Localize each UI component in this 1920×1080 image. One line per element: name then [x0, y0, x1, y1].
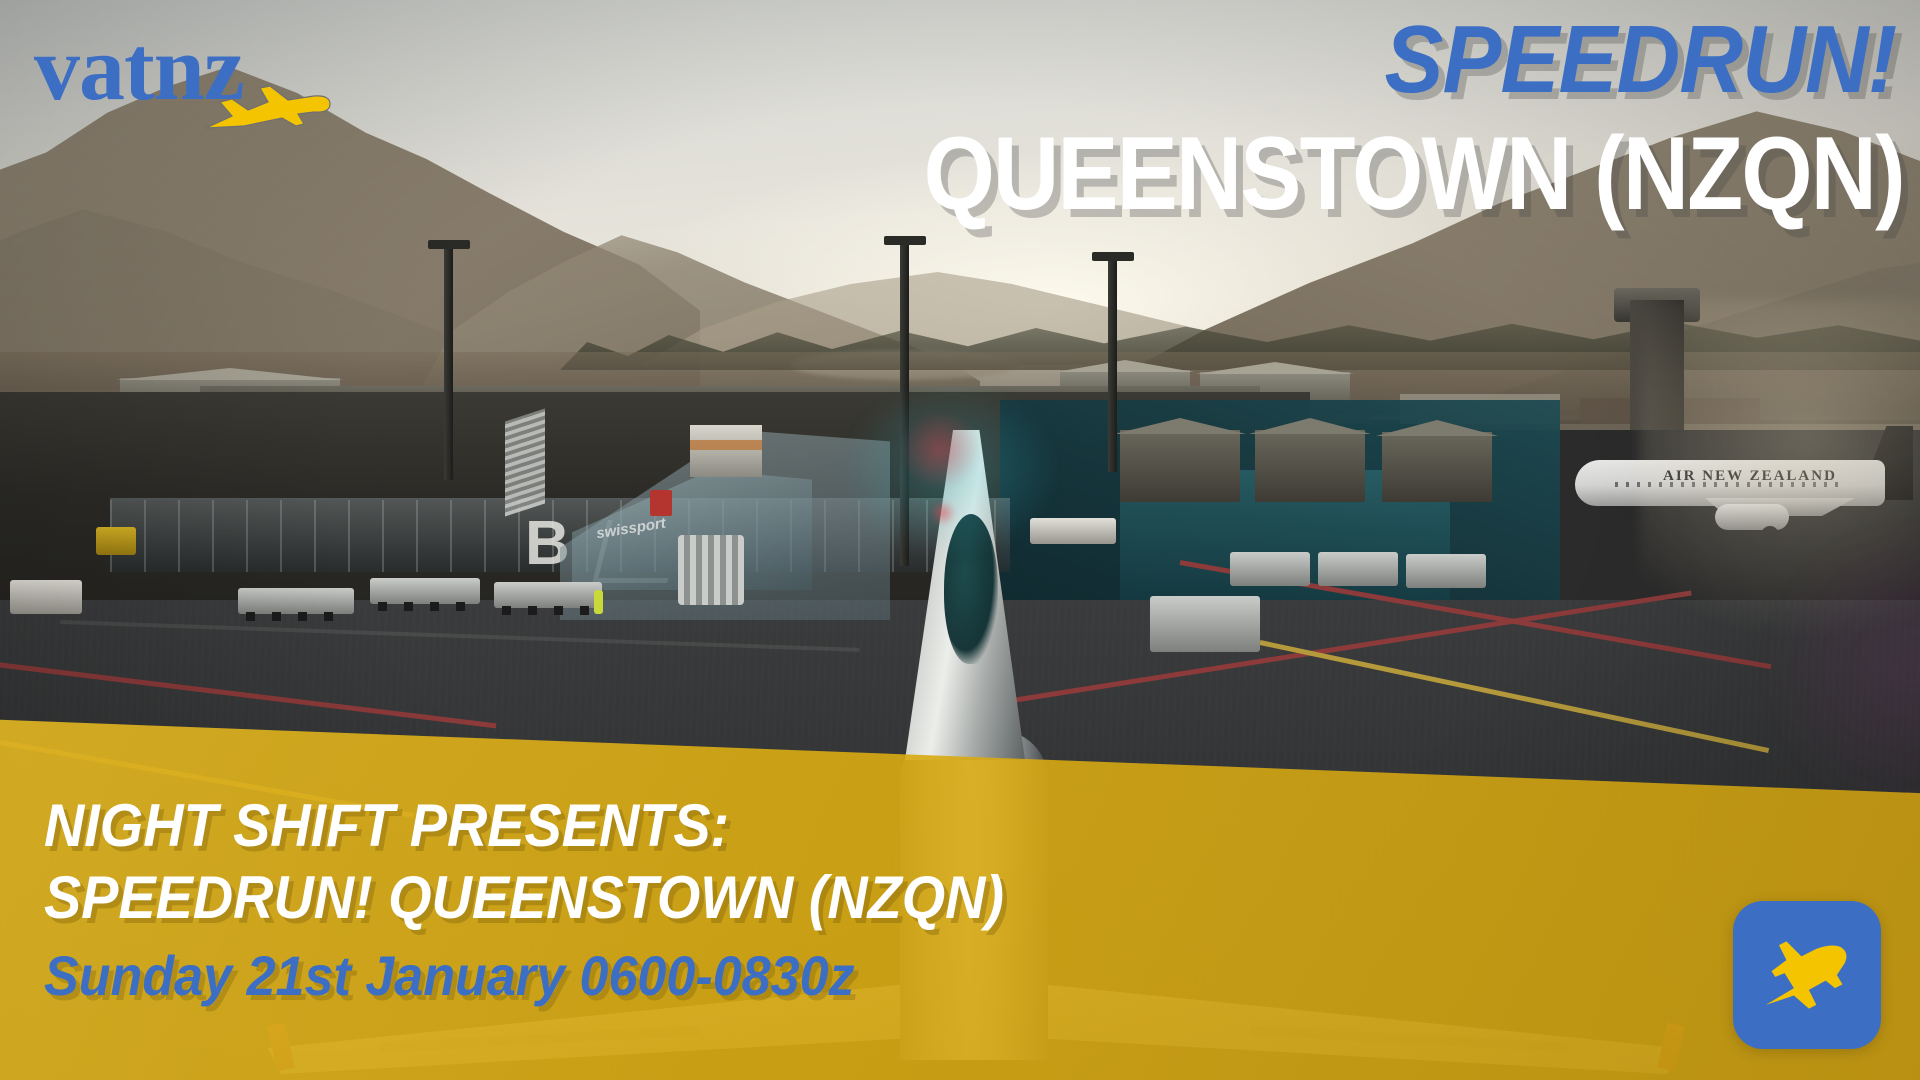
app-badge[interactable] [1733, 901, 1881, 1049]
airplane-icon [1751, 919, 1863, 1031]
banner-line-datetime: Sunday 21st January 0600-0830z [44, 948, 1207, 1004]
banner-line-presents: NIGHT SHIFT PRESENTS: [44, 796, 1207, 856]
page-title: QUEENSTOWN (NZQN) [924, 122, 1904, 226]
airplane-icon [202, 80, 332, 138]
event-poster: B AIR NEW ZEALAND [0, 0, 1920, 1080]
banner-line-event: SPEEDRUN! QUEENSTOWN (NZQN) [44, 868, 1207, 928]
vatnz-logo[interactable]: vatnz [34, 22, 334, 132]
speedrun-eyebrow: SPEEDRUN! [1384, 12, 1896, 108]
banner-text-block: NIGHT SHIFT PRESENTS: SPEEDRUN! QUEENSTO… [44, 796, 1294, 1004]
